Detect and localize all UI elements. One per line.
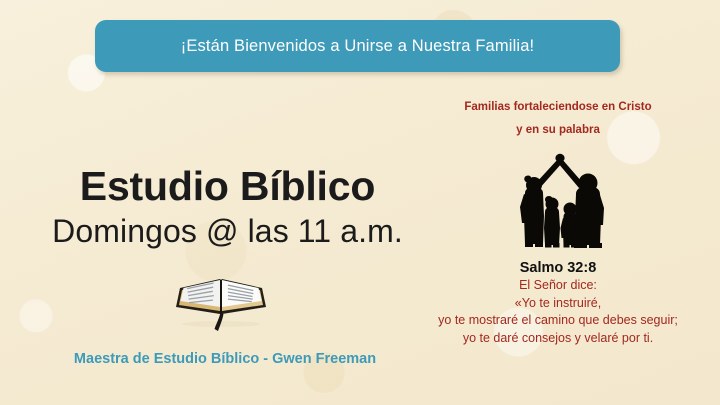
scripture-line-2: «Yo te instruiré, [403, 295, 713, 313]
teacher-credit: Maestra de Estudio Bíblico - Gwen Freema… [0, 351, 450, 367]
slide-canvas: ¡Están Bienvenidos a Unirse a Nuestra Fa… [0, 0, 720, 405]
welcome-banner: ¡Están Bienvenidos a Unirse a Nuestra Fa… [95, 20, 620, 72]
scripture-reference: Salmo 32:8 [403, 259, 713, 277]
open-bible-icon [172, 268, 270, 336]
scripture-line-3: yo te mostraré el camino que debes segui… [403, 312, 713, 330]
page-title: Estudio Bíblico [0, 163, 455, 210]
family-silhouette-icon [500, 152, 618, 252]
welcome-banner-text: ¡Están Bienvenidos a Unirse a Nuestra Fa… [181, 37, 535, 56]
tagline-line-2: y en su palabra [408, 124, 708, 136]
meeting-time-subtitle: Domingos @ las 11 a.m. [0, 213, 455, 250]
tagline-line-1: Familias fortaleciendose en Cristo [408, 101, 708, 113]
scripture-line-1: El Señor dice: [403, 277, 713, 295]
scripture-line-4: yo te daré consejos y velaré por ti. [403, 330, 713, 348]
scripture-block: Salmo 32:8 El Señor dice: «Yo te instrui… [403, 259, 713, 347]
